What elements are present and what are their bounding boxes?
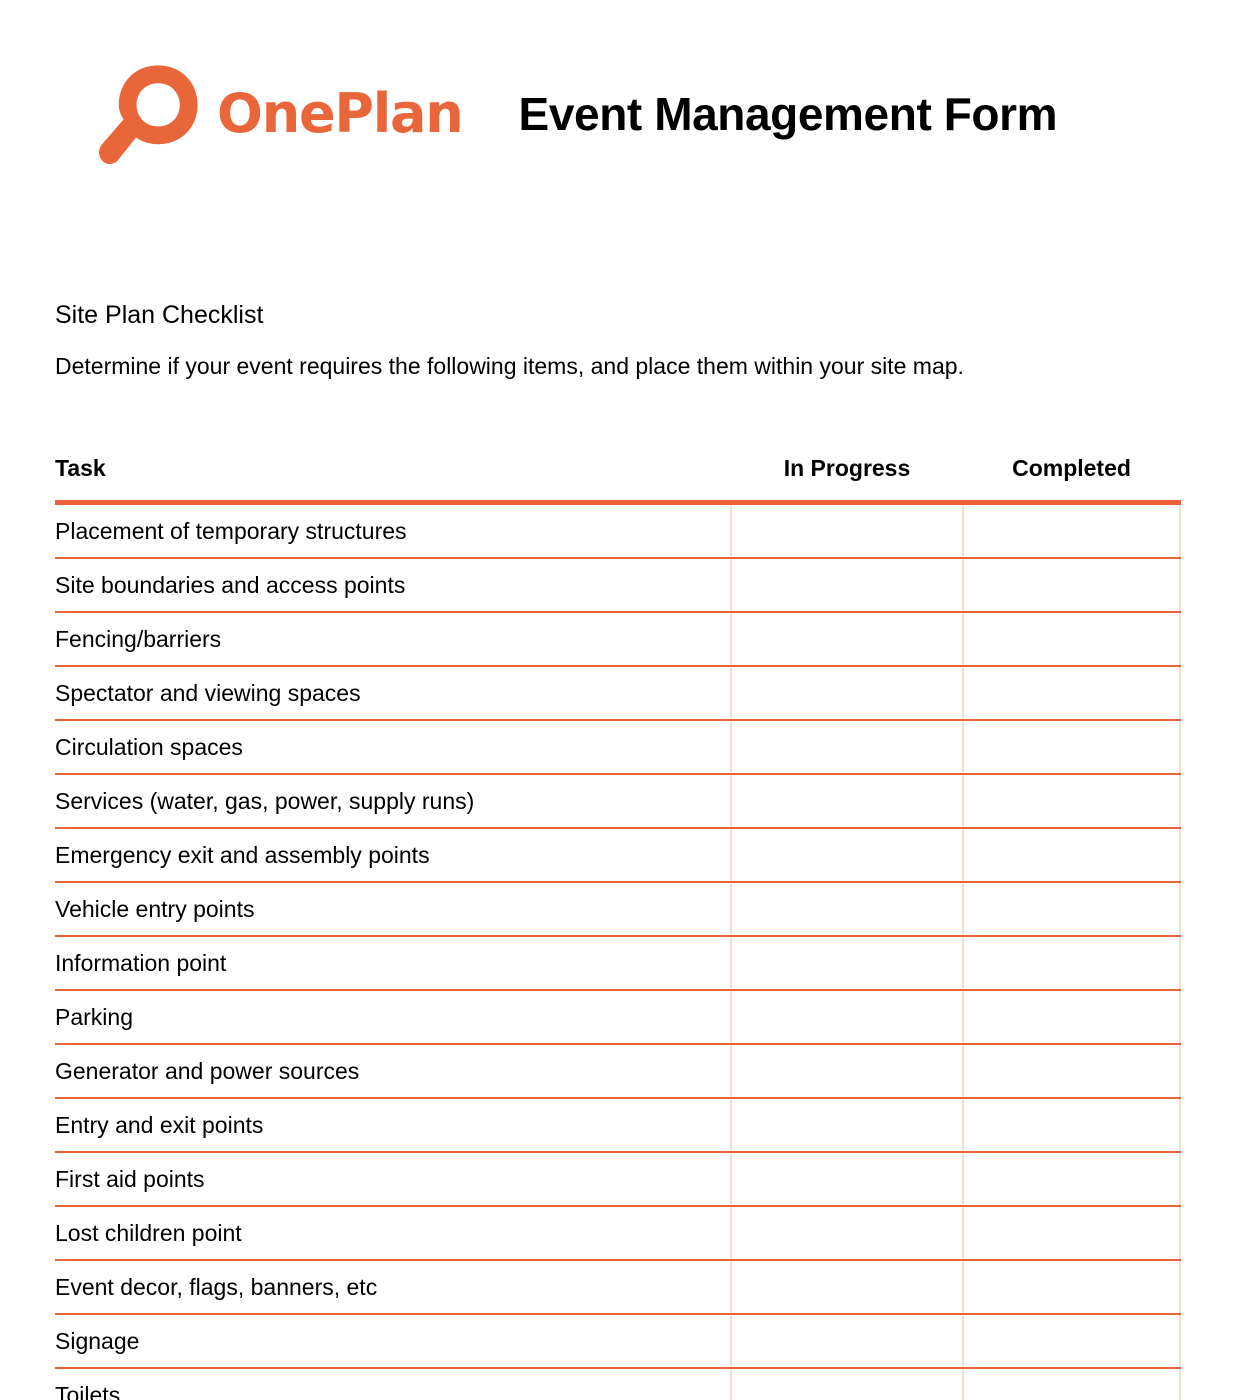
table-row: Signage	[55, 1314, 1180, 1368]
in-progress-checkbox-cell[interactable]	[731, 503, 963, 559]
table-row: Event decor, flags, banners, etc	[55, 1260, 1180, 1314]
task-label: Entry and exit points	[55, 1098, 731, 1152]
oneplan-pin-logo-icon	[95, 60, 203, 168]
table-row: First aid points	[55, 1152, 1180, 1206]
completed-checkbox-cell[interactable]	[963, 720, 1180, 774]
completed-checkbox-cell[interactable]	[963, 936, 1180, 990]
in-progress-checkbox-cell[interactable]	[731, 828, 963, 882]
task-label: Event decor, flags, banners, etc	[55, 1260, 731, 1314]
table-row: Lost children point	[55, 1206, 1180, 1260]
completed-checkbox-cell[interactable]	[963, 1098, 1180, 1152]
page-header: OnePlan Event Management Form	[95, 52, 1057, 176]
completed-checkbox-cell[interactable]	[963, 1206, 1180, 1260]
table-body: Placement of temporary structuresSite bo…	[55, 503, 1180, 1400]
in-progress-checkbox-cell[interactable]	[731, 612, 963, 666]
task-label: Emergency exit and assembly points	[55, 828, 731, 882]
completed-checkbox-cell[interactable]	[963, 1152, 1180, 1206]
completed-checkbox-cell[interactable]	[963, 828, 1180, 882]
table-row: Services (water, gas, power, supply runs…	[55, 774, 1180, 828]
table-row: Information point	[55, 936, 1180, 990]
completed-checkbox-cell[interactable]	[963, 1044, 1180, 1098]
task-label: Placement of temporary structures	[55, 503, 731, 559]
task-label: Spectator and viewing spaces	[55, 666, 731, 720]
task-label: Parking	[55, 990, 731, 1044]
column-header-task: Task	[55, 455, 731, 503]
task-label: Lost children point	[55, 1206, 731, 1260]
completed-checkbox-cell[interactable]	[963, 503, 1180, 559]
table-row: Parking	[55, 990, 1180, 1044]
intro-block: Site Plan Checklist Determine if your ev…	[55, 300, 1185, 381]
table-row: Placement of temporary structures	[55, 503, 1180, 559]
in-progress-checkbox-cell[interactable]	[731, 1260, 963, 1314]
in-progress-checkbox-cell[interactable]	[731, 1098, 963, 1152]
in-progress-checkbox-cell[interactable]	[731, 558, 963, 612]
task-label: Services (water, gas, power, supply runs…	[55, 774, 731, 828]
table-row: Toilets	[55, 1368, 1180, 1400]
completed-checkbox-cell[interactable]	[963, 666, 1180, 720]
task-label: Fencing/barriers	[55, 612, 731, 666]
table-row: Circulation spaces	[55, 720, 1180, 774]
brand-lockup: OnePlan	[95, 60, 463, 168]
in-progress-checkbox-cell[interactable]	[731, 990, 963, 1044]
task-label: Vehicle entry points	[55, 882, 731, 936]
column-header-in-progress: In Progress	[731, 455, 963, 503]
task-label: Toilets	[55, 1368, 731, 1400]
task-label: First aid points	[55, 1152, 731, 1206]
in-progress-checkbox-cell[interactable]	[731, 1368, 963, 1400]
task-label: Generator and power sources	[55, 1044, 731, 1098]
task-label: Signage	[55, 1314, 731, 1368]
task-label: Site boundaries and access points	[55, 558, 731, 612]
completed-checkbox-cell[interactable]	[963, 558, 1180, 612]
table-head: Task In Progress Completed	[55, 455, 1180, 503]
completed-checkbox-cell[interactable]	[963, 774, 1180, 828]
section-description: Determine if your event requires the fol…	[55, 352, 1185, 381]
table-row: Vehicle entry points	[55, 882, 1180, 936]
site-plan-checklist-table: Task In Progress Completed Placement of …	[55, 455, 1180, 1400]
table-row: Emergency exit and assembly points	[55, 828, 1180, 882]
table-row: Site boundaries and access points	[55, 558, 1180, 612]
column-header-completed: Completed	[963, 455, 1180, 503]
completed-checkbox-cell[interactable]	[963, 882, 1180, 936]
page-title: Event Management Form	[519, 91, 1058, 137]
in-progress-checkbox-cell[interactable]	[731, 1152, 963, 1206]
completed-checkbox-cell[interactable]	[963, 612, 1180, 666]
table-header-row: Task In Progress Completed	[55, 455, 1180, 503]
table-row: Entry and exit points	[55, 1098, 1180, 1152]
table-row: Generator and power sources	[55, 1044, 1180, 1098]
completed-checkbox-cell[interactable]	[963, 990, 1180, 1044]
in-progress-checkbox-cell[interactable]	[731, 1044, 963, 1098]
in-progress-checkbox-cell[interactable]	[731, 774, 963, 828]
section-heading: Site Plan Checklist	[55, 300, 1185, 330]
completed-checkbox-cell[interactable]	[963, 1314, 1180, 1368]
in-progress-checkbox-cell[interactable]	[731, 666, 963, 720]
in-progress-checkbox-cell[interactable]	[731, 936, 963, 990]
in-progress-checkbox-cell[interactable]	[731, 1314, 963, 1368]
form-page: OnePlan Event Management Form Site Plan …	[0, 0, 1256, 1400]
table-row: Fencing/barriers	[55, 612, 1180, 666]
table-row: Spectator and viewing spaces	[55, 666, 1180, 720]
completed-checkbox-cell[interactable]	[963, 1368, 1180, 1400]
brand-wordmark: OnePlan	[217, 87, 463, 141]
completed-checkbox-cell[interactable]	[963, 1260, 1180, 1314]
in-progress-checkbox-cell[interactable]	[731, 1206, 963, 1260]
task-label: Circulation spaces	[55, 720, 731, 774]
task-label: Information point	[55, 936, 731, 990]
in-progress-checkbox-cell[interactable]	[731, 720, 963, 774]
in-progress-checkbox-cell[interactable]	[731, 882, 963, 936]
